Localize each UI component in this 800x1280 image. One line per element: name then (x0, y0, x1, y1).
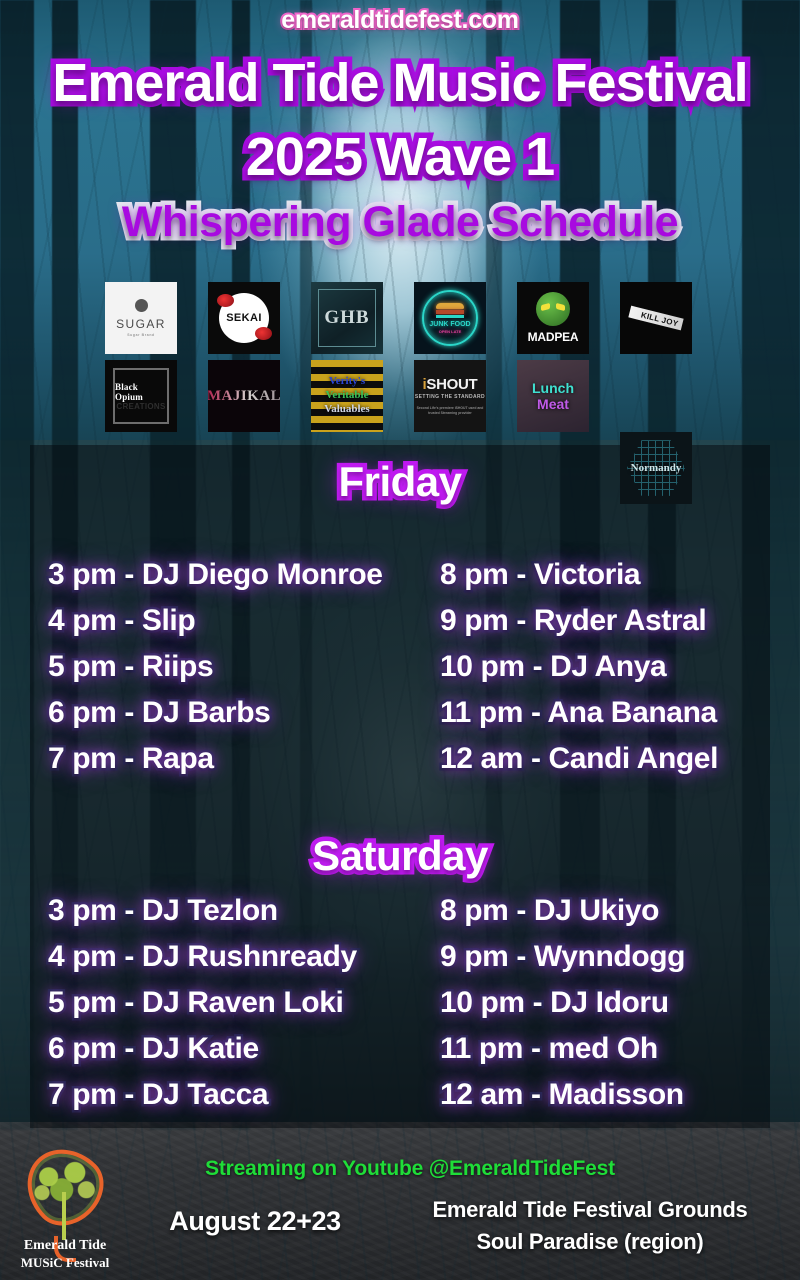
sponsor-logo-veritys-veritable-valuables[interactable]: Verity's Veritable Valuables (311, 360, 383, 432)
sponsor-label: Black Opium (115, 382, 167, 402)
sugar-emblem-icon (135, 299, 148, 312)
set-slot: 6 pm - DJ Katie (48, 1026, 357, 1072)
set-slot: 4 pm - DJ Rushnready (48, 934, 357, 980)
streaming-info[interactable]: Streaming on Youtube @EmeraldTideFest (130, 1157, 690, 1181)
day-header-saturday: Saturday (0, 832, 800, 880)
sponsor-sublabel: CREATIONS (116, 402, 165, 411)
sponsor-logo-kill-joy[interactable]: KILL JOY (620, 282, 692, 354)
logo-label-line2: MUSiC Festival (6, 1255, 124, 1271)
sponsor-label-line1: Verity's (329, 375, 365, 389)
set-slot: 3 pm - DJ Diego Monroe (48, 552, 383, 598)
venue-line2: Soul Paradise (region) (380, 1226, 800, 1258)
sponsor-logo-majikal[interactable]: MAJIKAL (208, 360, 280, 432)
opium-frame: Black Opium CREATIONS (113, 368, 169, 424)
sponsor-fineprint: Second Life's premiere iSHOUT used and t… (414, 406, 486, 416)
burger-neon-icon: JUNK FOOD OPEN LATE (422, 290, 478, 346)
sponsor-label: MAJIKAL (208, 388, 280, 405)
sponsor-label: SUGAR (116, 317, 166, 331)
day-header-friday: Friday (0, 458, 800, 506)
sponsor-sublabel: SETTING THE STANDARD (415, 394, 485, 400)
tree-trunk-icon (62, 1192, 66, 1240)
set-slot: 7 pm - Rapa (48, 736, 383, 782)
set-slot: 9 pm - Ryder Astral (440, 598, 718, 644)
stage-subtitle: Whispering Glade Schedule (0, 198, 800, 247)
sponsor-sublabel: OPEN LATE (439, 329, 462, 334)
sponsor-logo-ghb[interactable]: GHB (311, 282, 383, 354)
sponsor-label-line2: Meat (537, 396, 569, 412)
sponsor-logo-junk-food[interactable]: JUNK FOOD OPEN LATE (414, 282, 486, 354)
sponsor-logo-ishout[interactable]: iiSHOUTSHOUT SETTING THE STANDARD Second… (414, 360, 486, 432)
set-slot: 5 pm - DJ Raven Loki (48, 980, 357, 1026)
festival-title-line2: 2025 Wave 1 (0, 126, 800, 188)
sponsor-logo-grid: SUGAR Sugar Brand Black Opium CREATIONS … (105, 282, 695, 440)
website-url[interactable]: emeraldtidefest.com (0, 6, 800, 35)
sponsor-label: JUNK FOOD (429, 321, 470, 328)
poster-footer: Emerald Tide MUSiC Festival Streaming on… (0, 1128, 800, 1280)
rose-icon (217, 294, 234, 307)
sponsor-label: SEKAI (226, 312, 262, 324)
venue-info: Emerald Tide Festival Grounds Soul Parad… (380, 1194, 800, 1258)
sponsor-label: iiSHOUTSHOUT (423, 376, 478, 393)
set-slot: 4 pm - Slip (48, 598, 383, 644)
sponsor-logo-black-opium[interactable]: Black Opium CREATIONS (105, 360, 177, 432)
set-slot: 3 pm - DJ Tezlon (48, 888, 357, 934)
event-dates: August 22+23 (130, 1206, 380, 1237)
festival-logo: Emerald Tide MUSiC Festival (6, 1136, 124, 1272)
sponsor-label: KILL JOY (640, 310, 679, 328)
set-slot: 11 pm - Ana Banana (440, 690, 718, 736)
friday-column-right: 8 pm - Victoria 9 pm - Ryder Astral 10 p… (440, 552, 718, 782)
set-slot: 5 pm - Riips (48, 644, 383, 690)
rose-icon (255, 327, 272, 340)
set-slot: 9 pm - Wynndogg (440, 934, 685, 980)
sponsor-label: GHB (324, 307, 369, 329)
festival-poster: emeraldtidefest.com Emerald Tide Music F… (0, 0, 800, 1280)
logo-label-line1: Emerald Tide (6, 1238, 124, 1254)
set-slot: 6 pm - DJ Barbs (48, 690, 383, 736)
venue-line1: Emerald Tide Festival Grounds (380, 1194, 800, 1226)
set-slot: 10 pm - DJ Idoru (440, 980, 685, 1026)
sponsor-logo-sekai[interactable]: SEKAI (208, 282, 280, 354)
saturday-column-left: 3 pm - DJ Tezlon 4 pm - DJ Rushnready 5 … (48, 888, 357, 1118)
sponsor-label: MADPEA (528, 330, 579, 344)
pea-face-icon (536, 292, 570, 326)
set-slot: 11 pm - med Oh (440, 1026, 685, 1072)
sponsor-sublabel: Sugar Brand (127, 333, 155, 337)
set-slot: 10 pm - DJ Anya (440, 644, 718, 690)
sponsor-logo-lunch-meat[interactable]: Lunch Meat (517, 360, 589, 432)
sponsor-label-line1: Lunch (532, 380, 574, 396)
set-slot: 12 am - Candi Angel (440, 736, 718, 782)
friday-column-left: 3 pm - DJ Diego Monroe 4 pm - Slip 5 pm … (48, 552, 383, 782)
set-slot: 7 pm - DJ Tacca (48, 1072, 357, 1118)
set-slot: 12 am - Madisson (440, 1072, 685, 1118)
saturday-column-right: 8 pm - DJ Ukiyo 9 pm - Wynndogg 10 pm - … (440, 888, 685, 1118)
festival-title-line1: Emerald Tide Music Festival (0, 52, 800, 114)
set-slot: 8 pm - Victoria (440, 552, 718, 598)
sponsor-logo-madpea[interactable]: MADPEA (517, 282, 589, 354)
blade-icon: KILL JOY (628, 306, 683, 331)
sponsor-logo-sugar[interactable]: SUGAR Sugar Brand (105, 282, 177, 354)
ghb-frame: GHB (318, 289, 376, 347)
sponsor-label-line2: Veritable (326, 389, 369, 403)
sponsor-label-line3: Valuables (324, 403, 369, 417)
set-slot: 8 pm - DJ Ukiyo (440, 888, 685, 934)
